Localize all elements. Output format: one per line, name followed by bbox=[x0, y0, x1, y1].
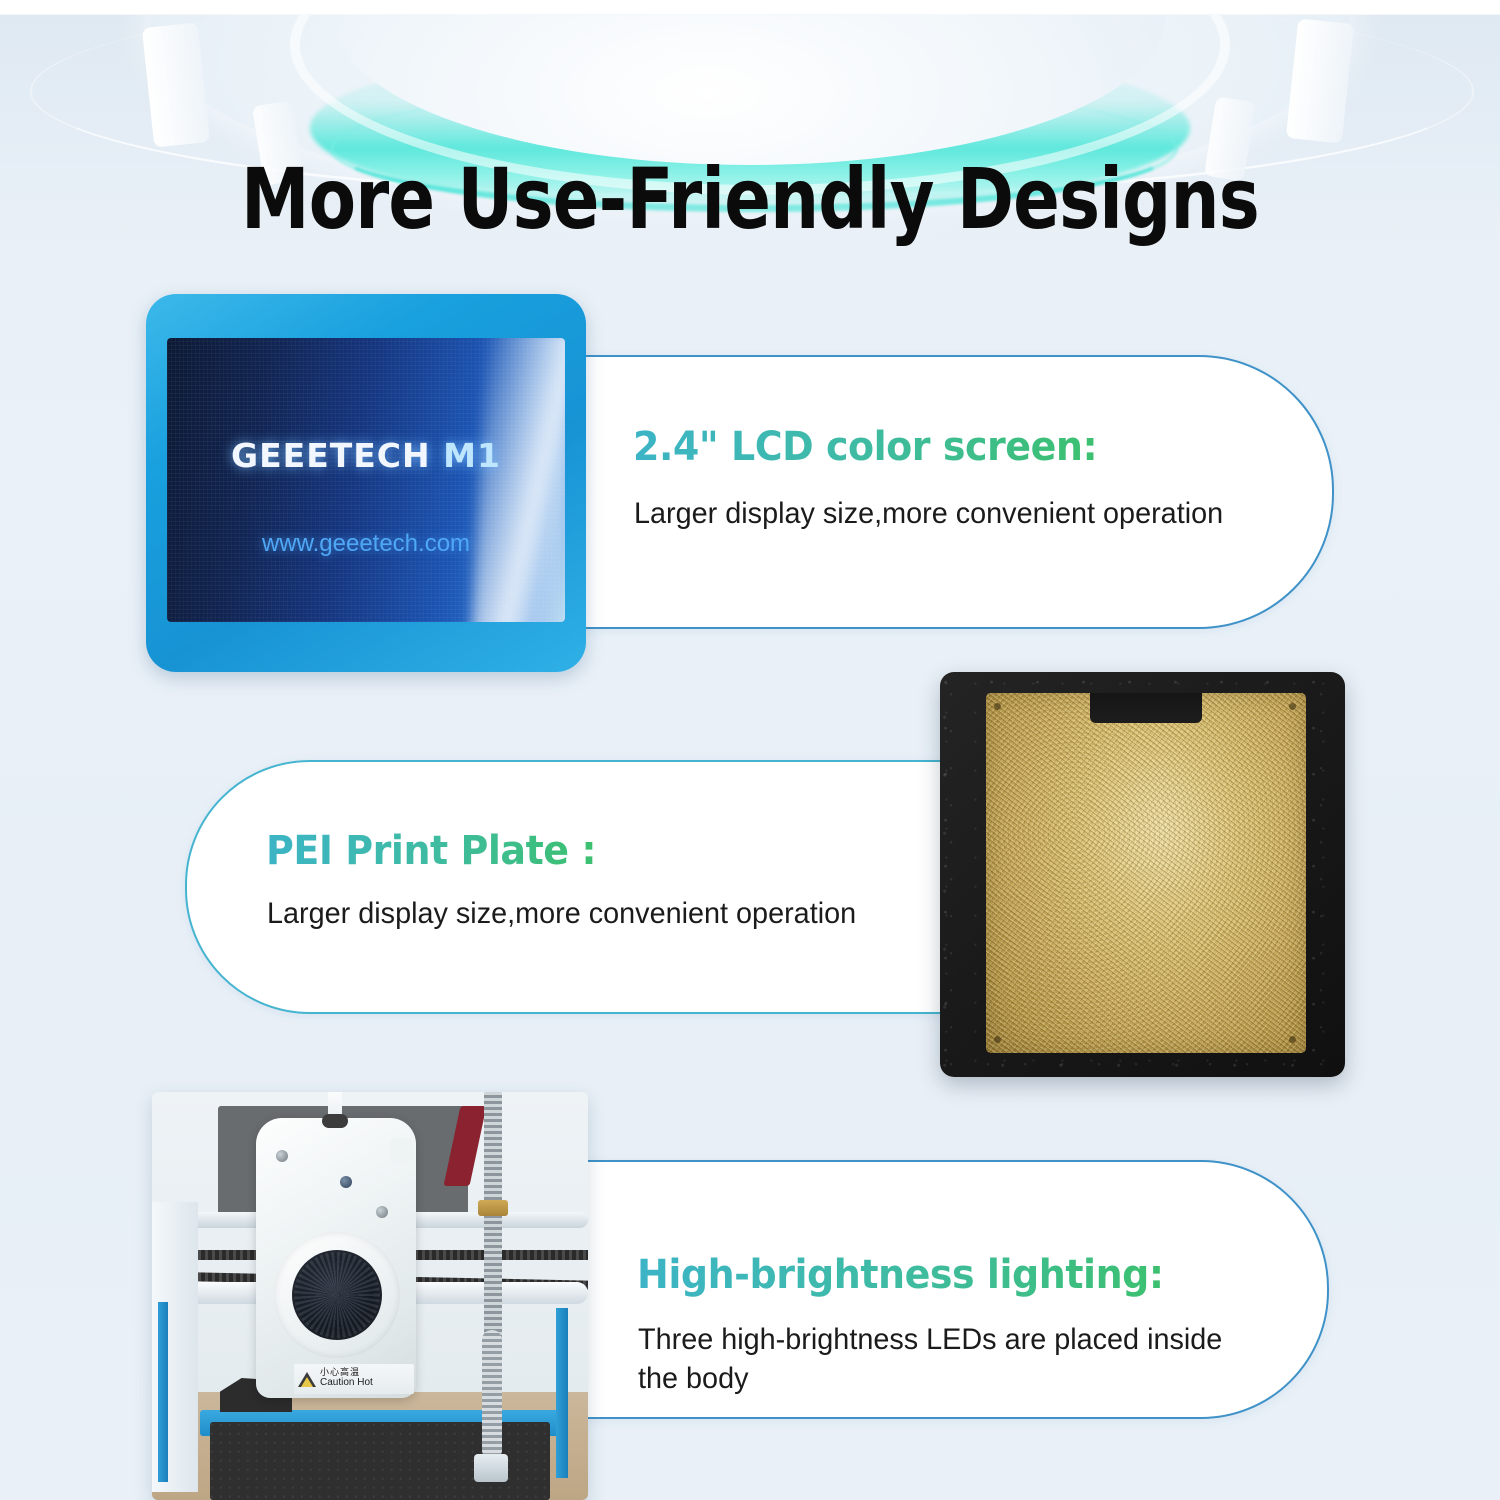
page-title: More Use-Friendly Designs bbox=[135, 150, 1365, 248]
infographic-page: More Use-Friendly Designs 2.4" LCD color… bbox=[0, 0, 1500, 1500]
lcd-url-text: www.geeetech.com bbox=[167, 530, 565, 558]
extruder-bolt-left bbox=[276, 1150, 288, 1162]
feature-heading-pei-plate: PEI Print Plate : bbox=[266, 828, 596, 874]
lcd-glare bbox=[471, 338, 565, 622]
caution-hot-label: 小心高温 Caution Hot bbox=[294, 1364, 414, 1394]
feature-body-pei-plate: Larger display size,more convenient oper… bbox=[267, 894, 856, 933]
lcd-display-area: GEEETECH M1 www.geeetech.com bbox=[167, 338, 565, 622]
feature-body-lighting: Three high-brightness LEDs are placed in… bbox=[638, 1320, 1252, 1398]
plate-hole-tl bbox=[994, 703, 1001, 710]
extruder-bolt-right bbox=[376, 1206, 388, 1218]
printer-blue-upright-right bbox=[556, 1308, 568, 1478]
feature-body-lighting-line1: Three high-brightness LEDs are placed in… bbox=[638, 1320, 1252, 1359]
feature-heading-lcd-screen: 2.4" LCD color screen: bbox=[633, 424, 1097, 470]
feature-body-lcd-screen: Larger display size,more convenient oper… bbox=[634, 494, 1223, 533]
printer-fan-blades bbox=[294, 1252, 380, 1338]
feature-body-lighting-line2: the body bbox=[638, 1359, 1252, 1398]
lcd-brand-text: GEEETECH M1 bbox=[167, 436, 565, 475]
lcd-model-name: M1 bbox=[443, 436, 501, 475]
pei-print-plate-photo bbox=[940, 672, 1345, 1077]
printer-blue-upright-left bbox=[158, 1302, 168, 1482]
plate-hole-tr bbox=[1289, 703, 1296, 710]
printer-head-photo: 小心高温 Caution Hot bbox=[152, 1092, 588, 1500]
printer-lead-screw-lower bbox=[482, 1330, 502, 1460]
extruder-top-bump bbox=[390, 1138, 414, 1164]
warning-triangle-icon bbox=[298, 1372, 316, 1387]
plate-hole-br bbox=[1289, 1036, 1296, 1043]
feature-callout-lcd-screen bbox=[470, 355, 1334, 629]
caution-label-text: 小心高温 Caution Hot bbox=[320, 1369, 373, 1389]
plate-hole-bl bbox=[994, 1036, 1001, 1043]
feature-callout-pei-plate bbox=[185, 760, 1069, 1014]
plate-gold-texture bbox=[986, 693, 1306, 1053]
lcd-brand-name: GEEETECH bbox=[231, 436, 431, 475]
caution-label-english: Caution Hot bbox=[320, 1378, 373, 1389]
lcd-screen-photo: GEEETECH M1 www.geeetech.com bbox=[146, 294, 586, 672]
plate-gold-sheet bbox=[986, 693, 1306, 1053]
plate-handle-cutout bbox=[1090, 693, 1202, 723]
printer-brass-nut bbox=[478, 1200, 508, 1216]
feature-heading-lighting: High-brightness lighting: bbox=[637, 1252, 1164, 1298]
printer-tube-fitting bbox=[322, 1114, 348, 1128]
printer-screw-collar bbox=[474, 1454, 508, 1482]
extruder-port bbox=[340, 1176, 352, 1188]
printer-cooling-fan bbox=[292, 1250, 382, 1340]
